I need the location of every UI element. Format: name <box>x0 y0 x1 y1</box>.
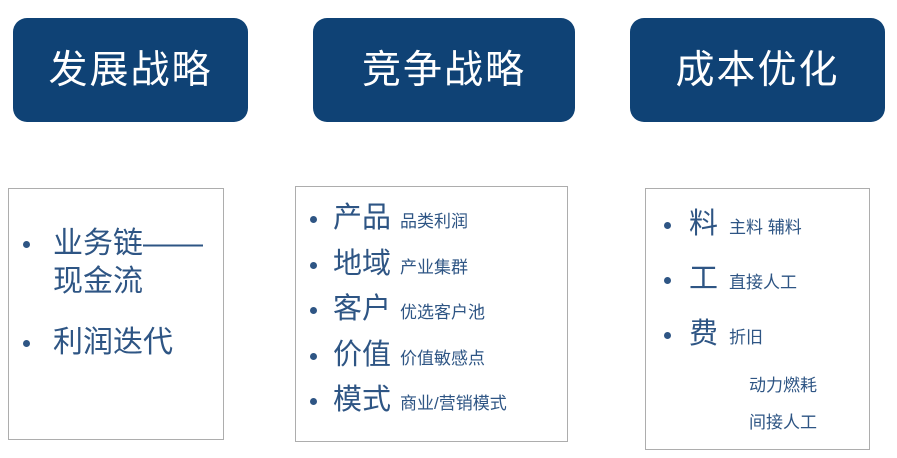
sub-list-item: 间接人工 <box>749 408 869 433</box>
list-item-main: 客户 <box>333 293 391 325</box>
list-item-main: 工 <box>689 263 718 295</box>
list-item-main: 产品 <box>333 202 391 234</box>
list-item-text: 模式商业/营销模式 <box>333 381 567 420</box>
list-item-main: 费 <box>689 318 718 350</box>
list-item-sub: 品类利润 <box>400 212 468 231</box>
list-item[interactable]: 工直接人工 <box>664 262 869 297</box>
header-pill-cost-optimization[interactable]: 成本优化 <box>630 18 885 122</box>
list-item-text: 价值价值敏感点 <box>333 336 567 375</box>
list-item-main: 模式 <box>333 384 391 416</box>
bullet-icon <box>23 225 53 248</box>
list-item-main: 地域 <box>333 248 391 280</box>
panel-cost-optimization: 料主料 辅料 工直接人工 费折旧 动力燃耗 间接人工 <box>645 188 870 450</box>
list-item-sub: 折旧 <box>729 328 763 347</box>
list-item-sub: 主料 辅料 <box>729 218 802 237</box>
header-pill-development-strategy[interactable]: 发展战略 <box>13 18 248 122</box>
list-item[interactable]: 模式商业/营销模式 <box>310 381 567 420</box>
panel-development-strategy: 业务链——现金流 利润迭代 <box>8 188 224 440</box>
panel-rows: 料主料 辅料 工直接人工 费折旧 动力燃耗 间接人工 <box>646 189 869 449</box>
panel-rows: 业务链——现金流 利润迭代 <box>9 189 223 439</box>
list-item[interactable]: 费折旧 <box>664 317 869 352</box>
list-item[interactable]: 地域产业集群 <box>310 245 567 284</box>
list-item-main: 业务链——现金流 <box>53 225 213 302</box>
list-item-sub: 直接人工 <box>729 273 797 292</box>
list-item-text: 费折旧 <box>689 317 869 352</box>
header-pill-label: 成本优化 <box>675 51 839 90</box>
panel-competition-strategy: 产品品类利润 地域产业集群 客户优选客户池 价值价值敏感点 <box>295 186 568 442</box>
list-item[interactable]: 料主料 辅料 <box>664 207 869 242</box>
list-item[interactable]: 产品品类利润 <box>310 199 567 238</box>
list-item-main: 价值 <box>333 339 391 371</box>
list-item[interactable]: 客户优选客户池 <box>310 290 567 329</box>
sub-list-item: 动力燃耗 <box>749 371 869 396</box>
list-item-text: 地域产业集群 <box>333 245 567 284</box>
list-item-sub: 优选客户池 <box>400 303 485 322</box>
list-item-text: 产品品类利润 <box>333 199 567 238</box>
header-pill-label: 发展战略 <box>48 51 212 90</box>
list-item-text: 料主料 辅料 <box>689 207 869 242</box>
list-item-text: 业务链——现金流 <box>53 225 223 302</box>
bullet-icon <box>23 324 53 347</box>
list-item[interactable]: 利润迭代 <box>23 324 223 362</box>
list-item-sub: 价值敏感点 <box>400 349 485 368</box>
list-item-text: 客户优选客户池 <box>333 290 567 329</box>
header-pill-competition-strategy[interactable]: 竞争战略 <box>313 18 575 122</box>
slide-canvas: 发展战略 竞争战略 成本优化 业务链——现金流 利润迭代 <box>0 0 897 458</box>
list-item[interactable]: 价值价值敏感点 <box>310 336 567 375</box>
list-item-sub: 产业集群 <box>400 258 468 277</box>
panel-rows: 产品品类利润 地域产业集群 客户优选客户池 价值价值敏感点 <box>296 187 567 441</box>
list-item-sub: 商业/营销模式 <box>400 394 507 413</box>
list-item-text: 利润迭代 <box>53 324 223 362</box>
list-item-main: 利润迭代 <box>53 324 213 362</box>
list-item[interactable]: 业务链——现金流 <box>23 225 223 302</box>
header-pill-label: 竞争战略 <box>362 51 526 90</box>
list-item-main: 料 <box>689 208 718 240</box>
list-item-text: 工直接人工 <box>689 262 869 297</box>
